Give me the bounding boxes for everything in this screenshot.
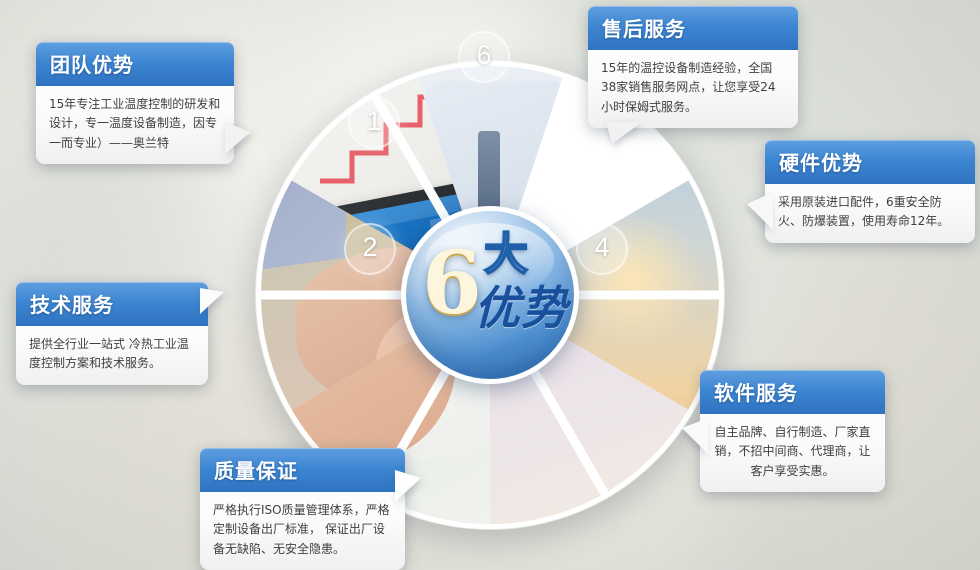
center-hub[interactable]: 6 大 优势 <box>401 206 579 384</box>
segment-number-4[interactable]: 4 <box>576 223 628 275</box>
card-body-team: 15年专注工业温度控制的研发和设计，专一温度设备制造，因专一而专业）——奥兰特 <box>36 86 234 164</box>
segment-number-1[interactable]: 1 <box>348 97 400 149</box>
callout-tail <box>747 192 773 230</box>
card-title-after-sales: 售后服务 <box>588 6 798 50</box>
card-title-team: 团队优势 <box>36 42 234 86</box>
callout-card-after-sales[interactable]: 售后服务 15年的温控设备制造经验，全国38家销售服务网点，让您享受24小时保姆… <box>588 6 798 128</box>
segment-number-2[interactable]: 2 <box>344 223 396 275</box>
card-body-quality: 严格执行ISO质量管理体系，严格定制设备出厂标准， 保证出厂设备无缺陷、无安全隐… <box>200 492 405 570</box>
callout-tail <box>395 470 421 502</box>
callout-card-quality[interactable]: 质量保证 严格执行ISO质量管理体系，严格定制设备出厂标准， 保证出厂设备无缺陷… <box>200 448 405 570</box>
card-title-software: 软件服务 <box>700 370 885 414</box>
card-body-after-sales: 15年的温控设备制造经验，全国38家销售服务网点，让您享受24小时保姆式服务。 <box>588 50 798 128</box>
hub-word: 优势 <box>474 285 568 331</box>
hub-big-char: 大 <box>484 233 528 277</box>
callout-tail <box>606 122 642 144</box>
card-title-quality: 质量保证 <box>200 448 405 492</box>
card-title-technical: 技术服务 <box>16 282 208 326</box>
hub-number: 6 <box>422 241 482 327</box>
callout-card-team[interactable]: 团队优势 15年专注工业温度控制的研发和设计，专一温度设备制造，因专一而专业）—… <box>36 42 234 164</box>
card-body-hardware: 采用原装进口配件，6重安全防火、防爆装置，使用寿命12年。 <box>765 184 975 243</box>
card-body-software: 自主品牌、自行制造、厂家直销，不招中间商、代理商，让客户享受实惠。 <box>700 414 885 492</box>
card-title-hardware: 硬件优势 <box>765 140 975 184</box>
callout-tail <box>200 288 224 314</box>
callout-card-hardware[interactable]: 硬件优势 采用原装进口配件，6重安全防火、防爆装置，使用寿命12年。 <box>765 140 975 243</box>
callout-card-technical[interactable]: 技术服务 提供全行业一站式 冷热工业温度控制方案和技术服务。 <box>16 282 208 385</box>
callout-card-software[interactable]: 软件服务 自主品牌、自行制造、厂家直销，不招中间商、代理商，让客户享受实惠。 <box>700 370 885 492</box>
callout-tail <box>225 122 251 154</box>
callout-tail <box>682 418 708 454</box>
segment-number-6[interactable]: 6 <box>458 31 510 83</box>
card-body-technical: 提供全行业一站式 冷热工业温度控制方案和技术服务。 <box>16 326 208 385</box>
